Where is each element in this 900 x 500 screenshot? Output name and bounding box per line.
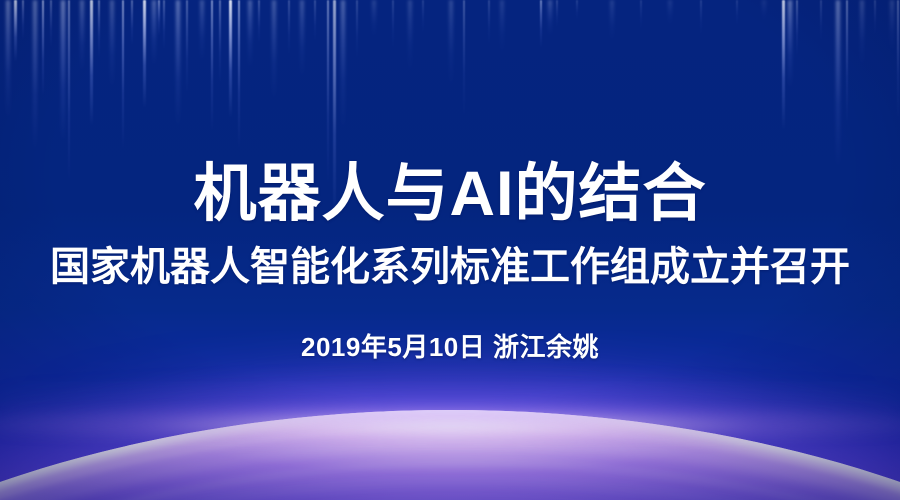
main-title: 机器人与AI的结合 <box>0 158 900 230</box>
poster-text-block: 机器人与AI的结合 国家机器人智能化系列标准工作组成立并召开 2019年5月10… <box>0 0 900 500</box>
date-location-line: 2019年5月10日 浙江余姚 <box>0 331 900 363</box>
subtitle: 国家机器人智能化系列标准工作组成立并召开 <box>0 243 900 291</box>
poster-banner: 机器人与AI的结合 国家机器人智能化系列标准工作组成立并召开 2019年5月10… <box>0 0 900 500</box>
